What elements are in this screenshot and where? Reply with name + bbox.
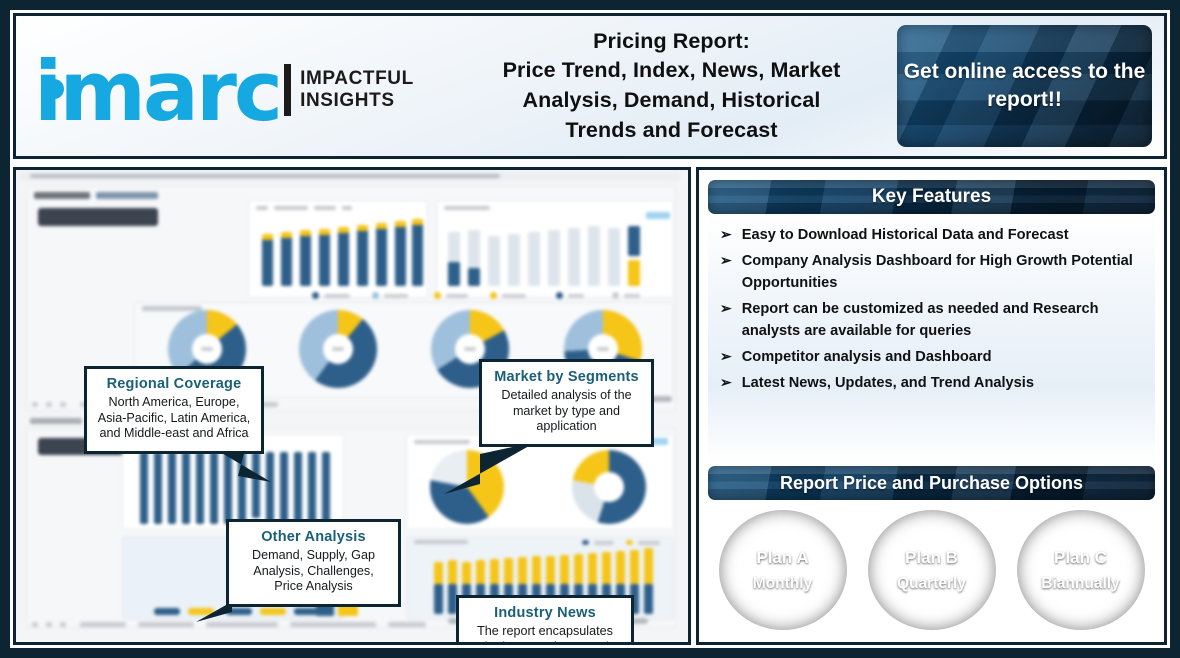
logo-tagline-line1: IMPACTFUL <box>300 68 414 90</box>
page-title: Pricing Report: Price Trend, Index, News… <box>446 27 897 146</box>
arrow-bullet-icon: ➢ <box>720 298 732 320</box>
list-item: ➢ Company Analysis Dashboard for High Gr… <box>720 250 1151 295</box>
plan-period: Biannually <box>1041 575 1119 593</box>
poster-frame: imarc IMPACTFUL INSIGHTS Pricing Report:… <box>5 5 1175 653</box>
arrow-bullet-icon: ➢ <box>720 224 732 246</box>
callout-title: Market by Segments <box>492 369 641 385</box>
callout-title: Other Analysis <box>239 529 388 545</box>
plan-b-button[interactable]: Plan B Quarterly <box>868 510 996 630</box>
callout-body: Detailed analysis of the market by type … <box>492 388 641 435</box>
arrow-bullet-icon: ➢ <box>720 346 732 368</box>
plan-name: Plan B <box>905 548 958 568</box>
key-features-list: ➢ Easy to Download Historical Data and F… <box>708 214 1155 462</box>
callout-title: Industry News <box>469 605 621 621</box>
plan-name: Plan A <box>756 548 808 568</box>
plan-period: Monthly <box>753 575 812 593</box>
feature-text: Competitor analysis and Dashboard <box>742 346 992 369</box>
report-price-heading: Report Price and Purchase Options <box>708 466 1155 500</box>
callout-other-analysis[interactable]: Other Analysis Demand, Supply, Gap Analy… <box>226 519 401 607</box>
dashboard-preview-panel[interactable]: Regional Coverage North America, Europe,… <box>13 167 691 645</box>
feature-text: Easy to Download Historical Data and For… <box>742 224 1069 247</box>
callout-body: The report encapsulates the latest updat… <box>469 624 621 645</box>
key-features-panel: Key Features ➢ Easy to Download Historic… <box>696 167 1167 645</box>
key-features-heading: Key Features <box>708 180 1155 214</box>
logo-tagline: IMPACTFUL INSIGHTS <box>300 68 414 112</box>
page-header: imarc IMPACTFUL INSIGHTS Pricing Report:… <box>13 13 1167 159</box>
arrow-bullet-icon: ➢ <box>720 372 732 394</box>
list-item: ➢ Easy to Download Historical Data and F… <box>720 224 1151 247</box>
plan-a-button[interactable]: Plan A Monthly <box>719 510 847 630</box>
callout-title: Regional Coverage <box>97 376 251 392</box>
callout-regional-coverage[interactable]: Regional Coverage North America, Europe,… <box>84 366 264 454</box>
feature-text: Company Analysis Dashboard for High Grow… <box>742 250 1151 295</box>
arrow-bullet-icon: ➢ <box>720 250 732 272</box>
logo-tagline-line2: INSIGHTS <box>300 90 414 112</box>
feature-text: Report can be customized as needed and R… <box>742 298 1151 343</box>
list-item: ➢ Competitor analysis and Dashboard <box>720 346 1151 369</box>
get-online-access-button[interactable]: Get online access to the report!! <box>897 25 1152 147</box>
callout-industry-news[interactable]: Industry News The report encapsulates th… <box>456 595 634 645</box>
logo-divider <box>284 64 291 116</box>
poster-body: Regional Coverage North America, Europe,… <box>10 167 1170 648</box>
logo-wordmark: imarc <box>34 59 280 125</box>
callout-body: Demand, Supply, Gap Analysis, Challenges… <box>239 548 388 595</box>
callout-market-by-segments[interactable]: Market by Segments Detailed analysis of … <box>479 359 654 447</box>
plan-name: Plan C <box>1054 548 1107 568</box>
callout-body: North America, Europe, Asia-Pacific, Lat… <box>97 395 251 442</box>
brand-logo: imarc IMPACTFUL INSIGHTS <box>16 53 446 119</box>
feature-text: Latest News, Updates, and Trend Analysis <box>742 372 1034 395</box>
plan-period: Quarterly <box>897 575 966 593</box>
list-item: ➢ Latest News, Updates, and Trend Analys… <box>720 372 1151 395</box>
plan-c-button[interactable]: Plan C Biannually <box>1017 510 1145 630</box>
pricing-plans: Plan A Monthly Plan B Quarterly Plan C B… <box>708 500 1155 630</box>
callout-tail-market-by-segments <box>436 442 546 502</box>
list-item: ➢ Report can be customized as needed and… <box>720 298 1151 343</box>
